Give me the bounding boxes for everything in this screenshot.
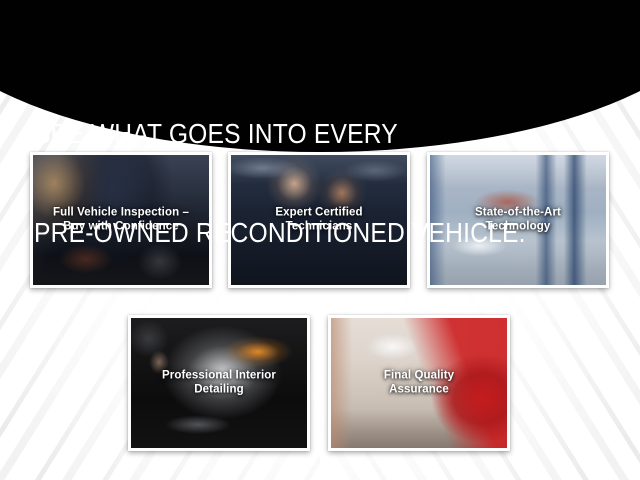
card-photo-frame: Professional Interior Detailing: [131, 318, 307, 448]
feature-card-professional-interior-detailing[interactable]: Professional Interior Detailing: [128, 315, 310, 451]
feature-card-final-quality-assurance[interactable]: Final Quality Assurance: [328, 315, 510, 451]
card-caption: Final Quality Assurance: [331, 368, 507, 396]
card-caption-line-1: Professional Interior: [137, 368, 301, 382]
page-title: SEE WHAT GOES INTO EVERY PRE-OWNED RECON…: [34, 51, 526, 315]
headline-line-1: SEE WHAT GOES INTO EVERY: [34, 117, 526, 150]
promo-banner: SEE WHAT GOES INTO EVERY PRE-OWNED RECON…: [0, 0, 640, 480]
card-photo-frame: Final Quality Assurance: [331, 318, 507, 448]
card-caption-line-1: Final Quality: [337, 368, 501, 382]
headline-line-2: PRE-OWNED RECONDITIONED VEHICLE.: [34, 216, 526, 249]
card-caption-line-2: Assurance: [337, 382, 501, 396]
card-caption-line-2: Detailing: [137, 382, 301, 396]
card-caption: Professional Interior Detailing: [131, 368, 307, 396]
